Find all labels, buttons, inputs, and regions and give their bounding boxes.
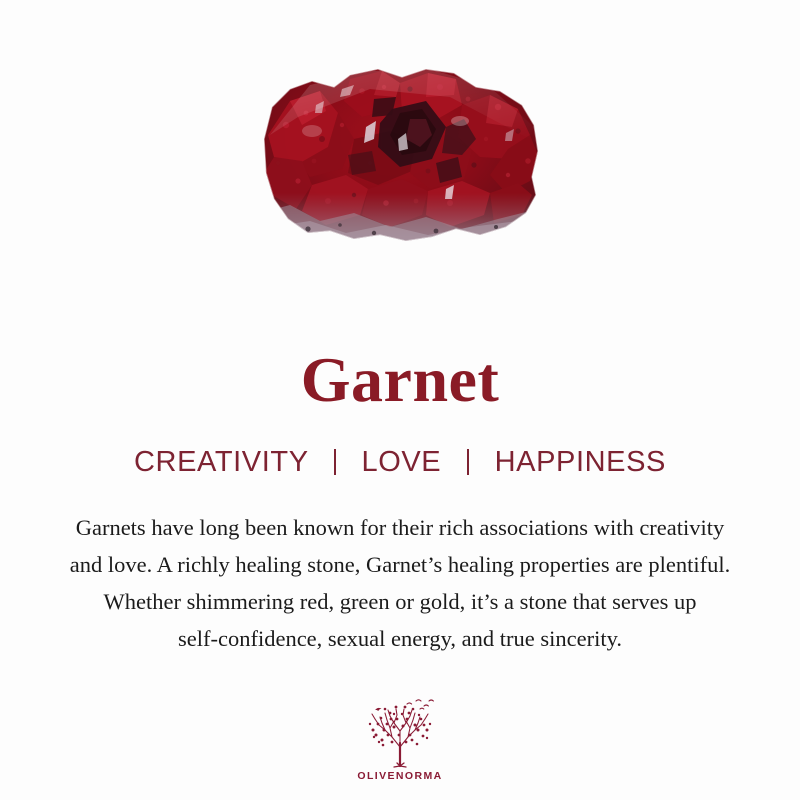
keyword-happiness: HAPPINESS [495, 446, 666, 478]
description-text: Garnets have long been known for their r… [10, 479, 790, 657]
description-line: Whether shimmering red, green or gold, i… [10, 583, 790, 620]
description-line: and love. A richly healing stone, Garnet… [10, 546, 790, 583]
description-line: self-confidence, sexual energy, and true… [10, 620, 790, 657]
keyword-line: CREATIVITY LOVE HAPPINESS [0, 412, 800, 479]
brand-wordmark: OLIVENORMA [357, 770, 442, 782]
brand-logo: OLIVENORMA [0, 697, 800, 782]
garnet-stone-image [250, 43, 550, 258]
keyword-love: LOVE [361, 446, 441, 478]
description-line: Garnets have long been known for their r… [10, 509, 790, 546]
keyword-creativity: CREATIVITY [134, 446, 308, 478]
hero-image-container [0, 0, 800, 300]
keyword-separator [467, 449, 469, 475]
garnet-info-card: Garnet CREATIVITY LOVE HAPPINESS Garnets… [0, 0, 800, 800]
page-title: Garnet [0, 300, 800, 412]
tree-with-birds-icon [361, 697, 439, 769]
keyword-separator [334, 449, 336, 475]
